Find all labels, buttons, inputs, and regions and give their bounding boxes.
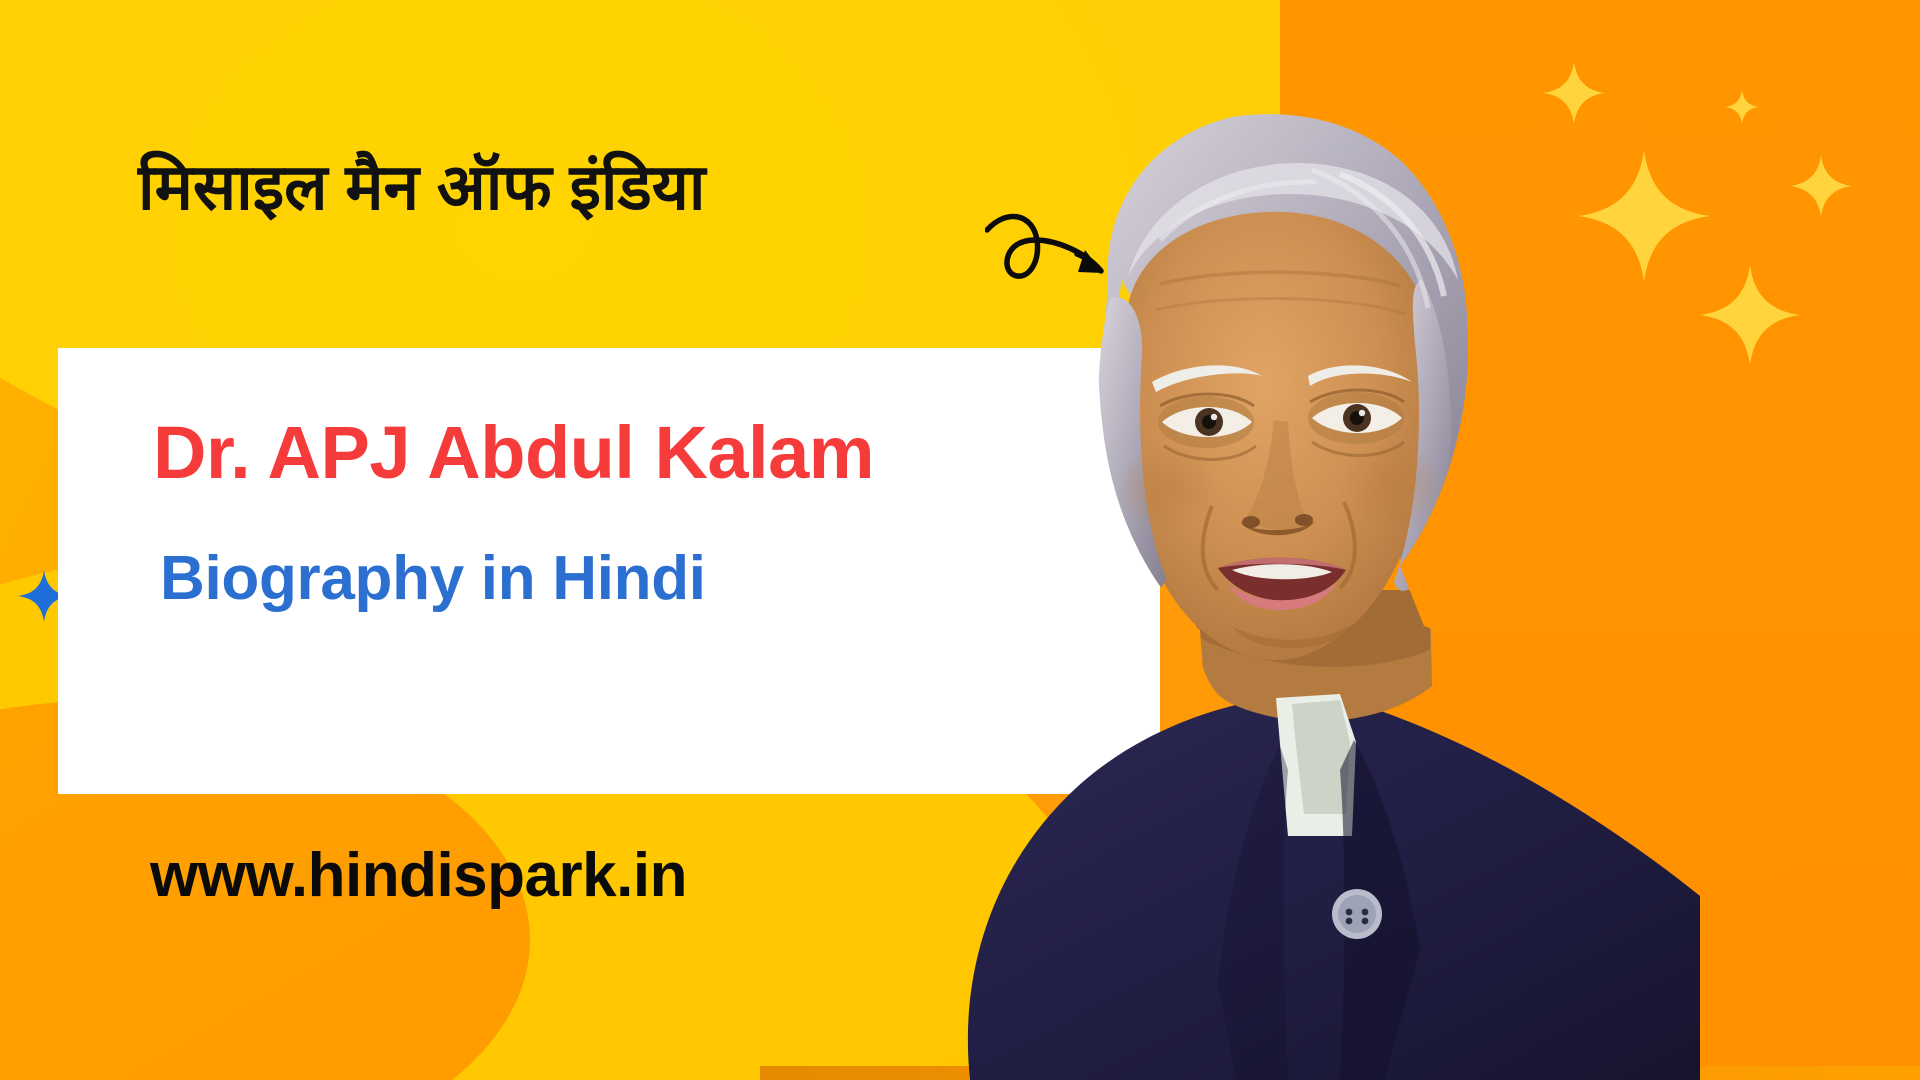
sparkle-lower-right-icon	[1700, 265, 1800, 365]
kicker-headline: मिसाइल मैन ऑफ इंडिया	[138, 152, 705, 222]
sparkle-tiny-upper-icon	[1725, 90, 1759, 124]
sparkle-right-mid-icon	[1790, 155, 1852, 217]
portrait-image	[640, 70, 1700, 1080]
banner-canvas: मिसाइल मैन ऑफ इंडिया Dr. APJ Abdul Kalam…	[0, 0, 1920, 1080]
website-url: www.hindispark.in	[150, 840, 687, 911]
page-subtitle: Biography in Hindi	[160, 543, 706, 614]
